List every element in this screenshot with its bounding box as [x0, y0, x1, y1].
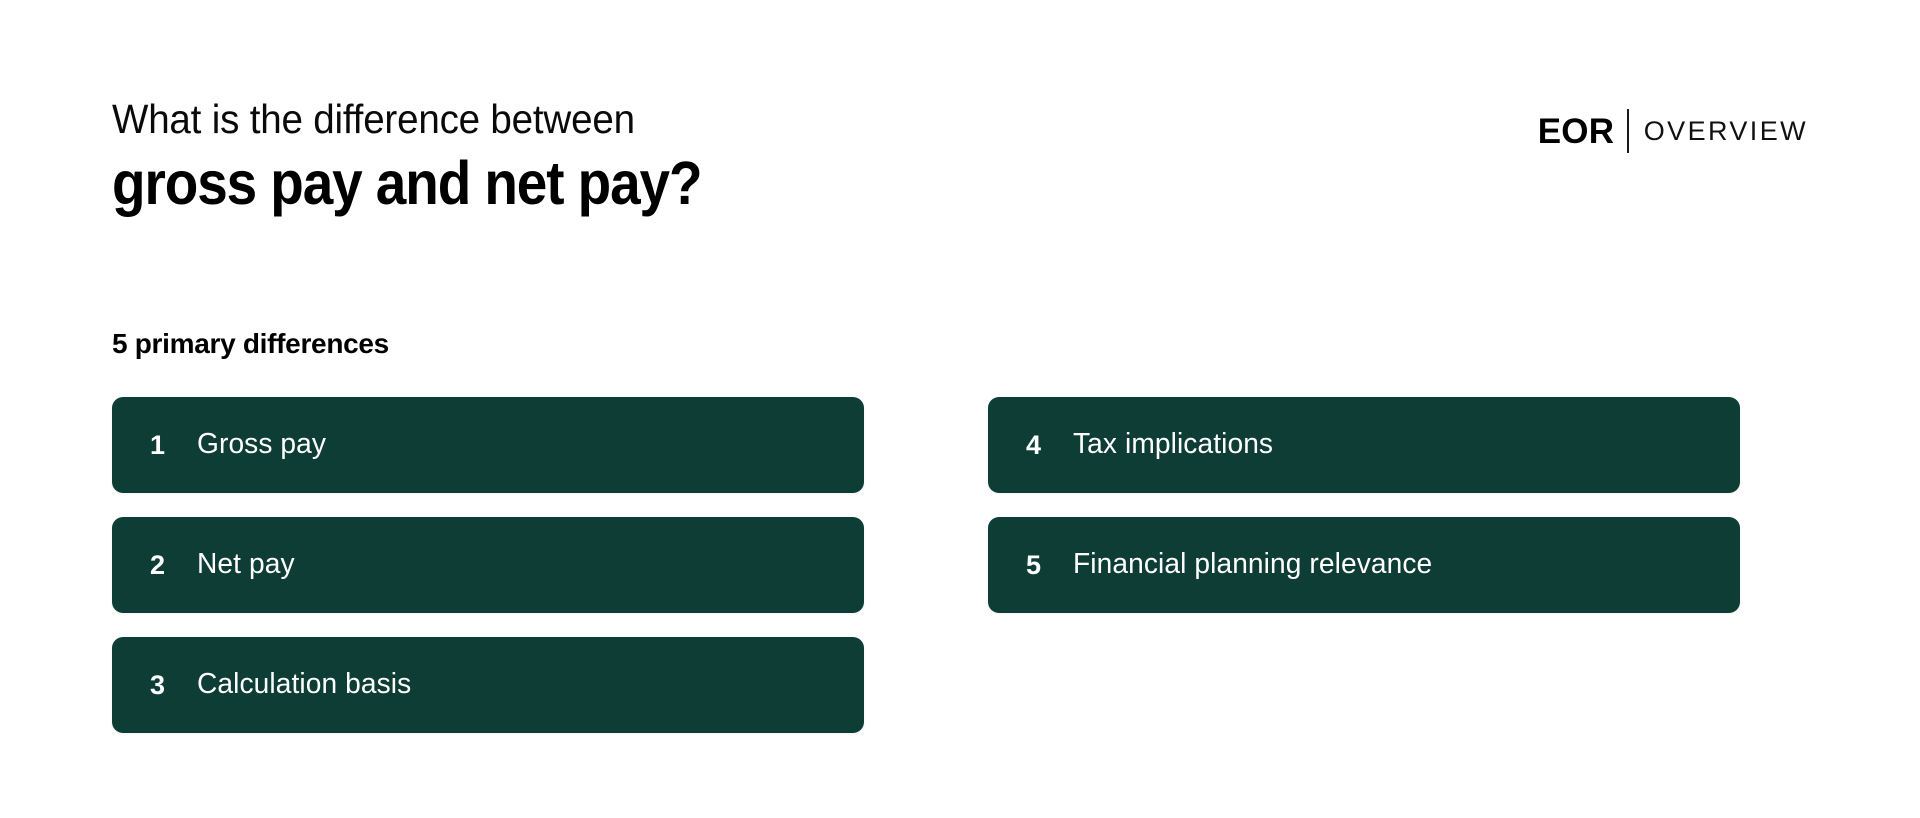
list-item-number: 1: [150, 432, 176, 459]
list-item-number: 3: [150, 672, 176, 699]
list-item-number: 2: [150, 552, 176, 579]
slide-canvas: What is the difference between gross pay…: [0, 0, 1920, 818]
differences-list: 1 Gross pay 2 Net pay 3 Calculation basi…: [112, 397, 1742, 737]
list-item-label: Financial planning relevance: [1073, 549, 1432, 581]
differences-column-right: 4 Tax implications 5 Financial planning …: [988, 397, 1740, 637]
logo-wordmark-overview: OVERVIEW: [1629, 118, 1808, 145]
title-line-primary: What is the difference between: [112, 96, 728, 142]
list-item[interactable]: 5 Financial planning relevance: [988, 517, 1740, 613]
list-item[interactable]: 2 Net pay: [112, 517, 864, 613]
section-subheading: 5 primary differences: [112, 328, 389, 360]
logo-wordmark-eor: EOR: [1538, 114, 1627, 149]
list-item-number: 5: [1026, 552, 1052, 579]
page-title: What is the difference between gross pay…: [112, 96, 767, 218]
slide-header: What is the difference between gross pay…: [112, 96, 1808, 206]
list-item-number: 4: [1026, 432, 1052, 459]
list-item[interactable]: 1 Gross pay: [112, 397, 864, 493]
list-item-label: Calculation basis: [197, 669, 411, 701]
differences-column-left: 1 Gross pay 2 Net pay 3 Calculation basi…: [112, 397, 864, 757]
list-item-label: Net pay: [197, 549, 295, 581]
brand-logo: EOR OVERVIEW: [1538, 110, 1808, 152]
list-item-label: Gross pay: [197, 429, 326, 461]
list-item[interactable]: 3 Calculation basis: [112, 637, 864, 733]
title-line-emphasis: gross pay and net pay?: [112, 148, 701, 218]
list-item[interactable]: 4 Tax implications: [988, 397, 1740, 493]
list-item-label: Tax implications: [1073, 429, 1273, 461]
